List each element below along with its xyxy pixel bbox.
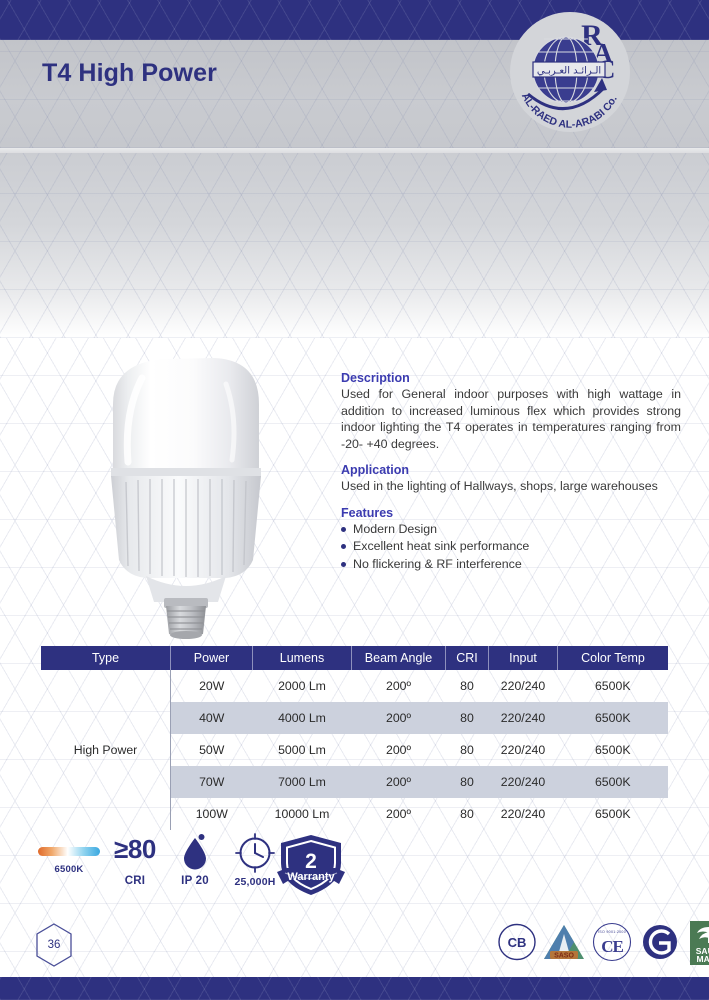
cell-beam-angle: 200º bbox=[352, 798, 446, 830]
ce-iso-label: ISO 9001:2000 bbox=[598, 930, 626, 934]
cell-color-temp: 6500K bbox=[558, 798, 669, 830]
cell-cri: 80 bbox=[446, 670, 489, 702]
application-text: Used in the lighting of Hallways, shops,… bbox=[341, 478, 681, 495]
cri-label: CRI bbox=[104, 875, 166, 887]
svg-text:CE: CE bbox=[601, 937, 623, 956]
column-header-input: Input bbox=[489, 646, 558, 670]
cell-cri: 80 bbox=[446, 734, 489, 766]
ce-certification-icon: ISO 9001:2000 CE bbox=[591, 921, 633, 963]
cell-lumens: 2000 Lm bbox=[253, 670, 352, 702]
feature-item: Modern Design bbox=[341, 521, 681, 539]
water-drop-icon bbox=[180, 832, 210, 870]
cell-power: 70W bbox=[171, 766, 253, 798]
application-heading: Application bbox=[341, 463, 681, 477]
cell-lumens: 10000 Lm bbox=[253, 798, 352, 830]
svg-text:CB: CB bbox=[508, 935, 527, 950]
cell-color-temp: 6500K bbox=[558, 702, 669, 734]
svg-text:G.C.C: G.C.C bbox=[654, 953, 665, 958]
feature-item: Excellent heat sink performance bbox=[341, 538, 681, 556]
color-temperature-icon bbox=[38, 844, 100, 858]
cell-beam-angle: 200º bbox=[352, 734, 446, 766]
column-header-lumens: Lumens bbox=[253, 646, 352, 670]
cell-cri: 80 bbox=[446, 702, 489, 734]
header-fade bbox=[0, 153, 709, 338]
table-row: High Power 20W 2000 Lm 200º 80 220/240 6… bbox=[41, 670, 668, 702]
cell-lumens: 4000 Lm bbox=[253, 702, 352, 734]
product-image-bulb bbox=[86, 352, 321, 642]
cell-input: 220/240 bbox=[489, 766, 558, 798]
saudi-made-line2: MADE bbox=[696, 954, 709, 964]
cell-power: 100W bbox=[171, 798, 253, 830]
cell-cri: 80 bbox=[446, 766, 489, 798]
cell-type: High Power bbox=[41, 670, 171, 830]
features-heading: Features bbox=[341, 506, 681, 520]
features-list: Modern Design Excellent heat sink perfor… bbox=[341, 521, 681, 574]
cell-beam-angle: 200º bbox=[352, 702, 446, 734]
feature-item: No flickering & RF interference bbox=[341, 556, 681, 574]
warranty-icon-group: 2 Warranty bbox=[246, 832, 376, 898]
cell-lumens: 7000 Lm bbox=[253, 766, 352, 798]
cell-color-temp: 6500K bbox=[558, 766, 669, 798]
cell-input: 220/240 bbox=[489, 702, 558, 734]
header-divider bbox=[0, 148, 709, 153]
svg-text:SASO: SASO bbox=[554, 953, 574, 960]
g-mark-certification-icon: G.C.C bbox=[639, 921, 681, 963]
company-logo: R A C الـرائـد العـربـي bbox=[506, 8, 634, 136]
warranty-shield-icon: 2 Warranty bbox=[275, 832, 347, 898]
column-header-power: Power bbox=[171, 646, 253, 670]
catalog-page: T4 High Power R A C ا bbox=[0, 0, 709, 1000]
cell-color-temp: 6500K bbox=[558, 670, 669, 702]
column-header-color-temp: Color Temp bbox=[558, 646, 669, 670]
cri-icon-group: ≥80 CRI bbox=[104, 832, 166, 887]
color-temp-label: 6500K bbox=[38, 864, 100, 875]
column-header-cri: CRI bbox=[446, 646, 489, 670]
cell-power: 40W bbox=[171, 702, 253, 734]
cell-power: 50W bbox=[171, 734, 253, 766]
cell-beam-angle: 200º bbox=[352, 670, 446, 702]
page-title: T4 High Power bbox=[42, 59, 217, 88]
ip-rating-label: IP 20 bbox=[170, 875, 220, 887]
cri-value: ≥80 bbox=[104, 832, 166, 866]
specifications-table: Type Power Lumens Beam Angle CRI Input C… bbox=[41, 646, 668, 830]
column-header-beam-angle: Beam Angle bbox=[352, 646, 446, 670]
ip-rating-icon-group: IP 20 bbox=[170, 832, 220, 887]
cell-lumens: 5000 Lm bbox=[253, 734, 352, 766]
cell-input: 220/240 bbox=[489, 734, 558, 766]
cb-certification-icon: CB bbox=[497, 921, 537, 963]
page-number: 36 bbox=[34, 922, 74, 968]
cell-cri: 80 bbox=[446, 798, 489, 830]
warranty-caption: Warranty bbox=[287, 871, 335, 883]
cell-color-temp: 6500K bbox=[558, 734, 669, 766]
logo-arabic-name: الـرائـد العـربـي bbox=[537, 66, 601, 77]
page-number-badge: 36 bbox=[34, 922, 74, 968]
saudi-made-certification-icon: SAUDI MADE bbox=[688, 921, 709, 965]
description-heading: Description bbox=[341, 371, 681, 385]
saso-certification-icon: SASO bbox=[542, 921, 586, 963]
cell-input: 220/240 bbox=[489, 670, 558, 702]
column-header-type: Type bbox=[41, 646, 171, 670]
header-fade-pattern bbox=[0, 153, 709, 338]
bottom-band-pattern bbox=[0, 977, 709, 1000]
cell-input: 220/240 bbox=[489, 798, 558, 830]
table-header-row: Type Power Lumens Beam Angle CRI Input C… bbox=[41, 646, 668, 670]
description-text: Used for General indoor purposes with hi… bbox=[341, 386, 681, 452]
product-info-column: Description Used for General indoor purp… bbox=[341, 371, 681, 573]
cell-power: 20W bbox=[171, 670, 253, 702]
bottom-navy-band bbox=[0, 977, 709, 1000]
color-temp-icon-group: 6500K bbox=[38, 844, 100, 875]
cell-beam-angle: 200º bbox=[352, 766, 446, 798]
